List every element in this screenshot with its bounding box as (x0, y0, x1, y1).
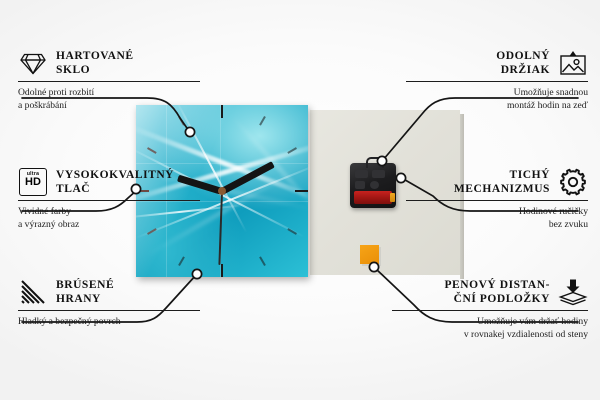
divider (18, 310, 200, 311)
feature-tempered-glass: HARTOVANÉ SKLO Odolné proti rozbití a po… (18, 48, 200, 112)
connector-dot-holder (377, 156, 386, 165)
feature-title: VYSOKOKVALITNÝ TLAČ (56, 168, 174, 196)
divider (406, 200, 588, 201)
picture-frame-icon (558, 48, 588, 78)
feature-description: Umožňuje snadnou montáž hodin na zeď (406, 86, 588, 112)
layers-arrow-icon (558, 277, 588, 307)
feature-head: ODOLNÝ DRŽIAK (406, 48, 588, 78)
brushed-edges-icon (18, 277, 48, 307)
feature-title: TICHÝ MECHANIZMUS (454, 168, 550, 196)
feature-head: TICHÝ MECHANIZMUS (406, 167, 588, 197)
divider (18, 200, 200, 201)
feature-durable-holder: ODOLNÝ DRŽIAK Umožňuje snadnou montáž ho… (406, 48, 588, 112)
feature-head: BRÚSENÉ HRANY (18, 277, 200, 307)
feature-description: Umožňuje vám držať hodiny v rovnakej vzd… (392, 315, 588, 341)
gear-icon (558, 167, 588, 197)
connector-dot-glass (185, 127, 194, 136)
ultra-hd-icon: ultra HD (18, 167, 48, 197)
feature-high-quality-print: ultra HD VYSOKOKVALITNÝ TLAČ Vividné far… (18, 167, 200, 231)
feature-head: ultra HD VYSOKOKVALITNÝ TLAČ (18, 167, 200, 197)
connector-dot-foam (369, 262, 378, 271)
feature-description: Hodinové ručičky bez zvuku (406, 205, 588, 231)
feature-head: HARTOVANÉ SKLO (18, 48, 200, 78)
connector-dot-mechanism (396, 173, 405, 182)
divider (406, 81, 588, 82)
feature-title: BRÚSENÉ HRANY (56, 278, 114, 306)
feature-head: PENOVÝ DISTAN- ČNÍ PODLOŽKY (392, 277, 588, 307)
divider (18, 81, 200, 82)
feature-ground-edges: BRÚSENÉ HRANY Hladký a bezpečný povrch (18, 277, 200, 328)
feature-description: Vividné farby a výrazný obraz (18, 205, 200, 231)
infographic-canvas: HARTOVANÉ SKLO Odolné proti rozbití a po… (0, 0, 600, 400)
feature-silent-mechanism: TICHÝ MECHANIZMUS Hodinové ručičky bez z… (406, 167, 588, 231)
diamond-icon (18, 48, 48, 78)
feature-title: ODOLNÝ DRŽIAK (496, 49, 550, 77)
feature-description: Hladký a bezpečný povrch (18, 315, 200, 328)
feature-title: PENOVÝ DISTAN- ČNÍ PODLOŽKY (444, 278, 550, 306)
feature-description: Odolné proti rozbití a poškrábání (18, 86, 200, 112)
feature-foam-spacers: PENOVÝ DISTAN- ČNÍ PODLOŽKY Umožňuje vám… (392, 277, 588, 341)
divider (392, 310, 588, 311)
feature-title: HARTOVANÉ SKLO (56, 49, 134, 77)
